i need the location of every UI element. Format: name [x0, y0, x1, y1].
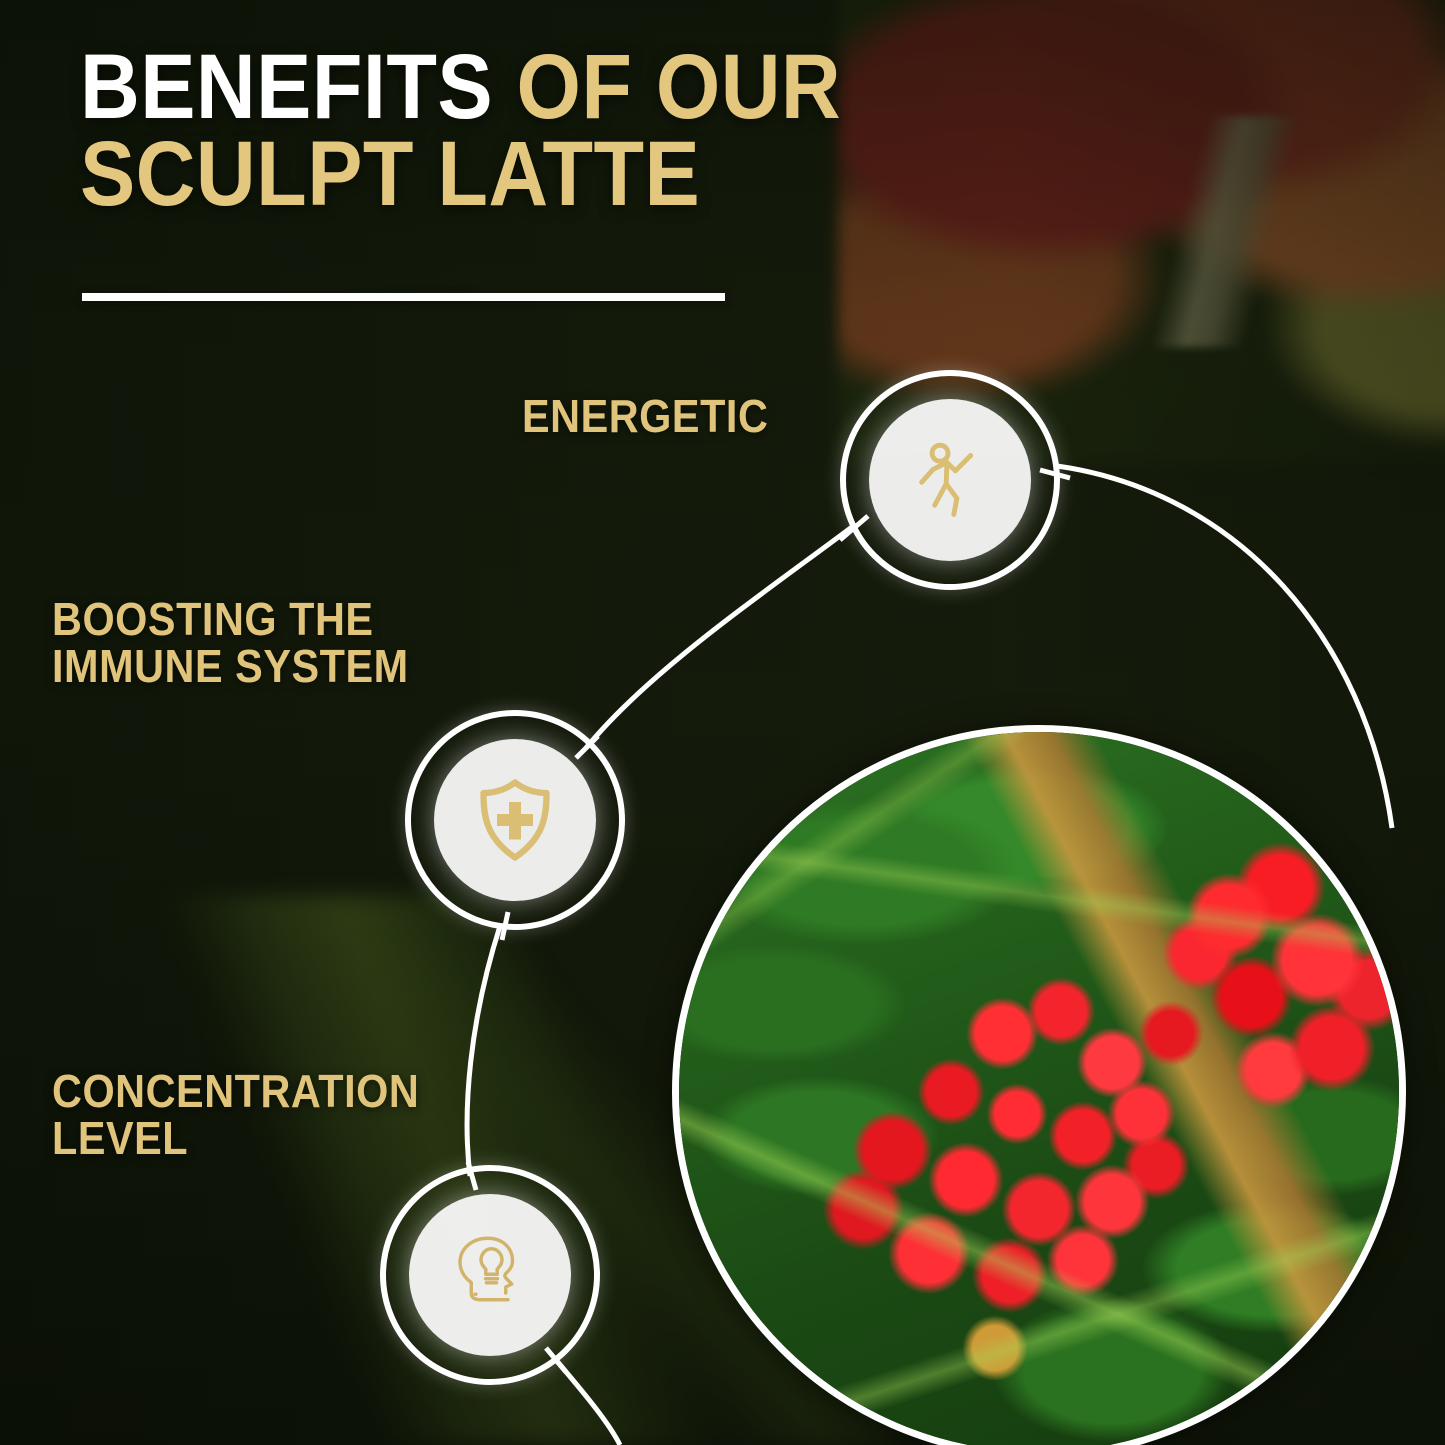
infographic-canvas: BENEFITS OF OUR SCULPT LATTE ENERGETIC B…	[0, 0, 1445, 1445]
inset-photo-leaf-veins	[679, 732, 1399, 1445]
benefit-node-energetic[interactable]	[840, 370, 1060, 590]
shield-plus-icon	[467, 772, 563, 868]
title-line-2: SCULPT LATTE	[80, 131, 818, 218]
title-underline	[82, 293, 725, 301]
benefit-label-concentration: CONCENTRATION LEVEL	[52, 1068, 419, 1162]
node-inner-disc	[869, 399, 1031, 561]
benefit-node-immune[interactable]	[405, 710, 625, 930]
title-line-1: BENEFITS OF OUR	[80, 44, 818, 131]
node-inner-disc	[409, 1194, 571, 1356]
benefit-node-concentration[interactable]	[380, 1165, 600, 1385]
benefit-label-energetic: ENERGETIC	[522, 393, 768, 440]
red-coffee-cherries-circle-photo	[672, 725, 1406, 1445]
page-title: BENEFITS OF OUR SCULPT LATTE	[80, 44, 900, 219]
node-inner-disc	[434, 739, 596, 901]
walking-person-icon	[901, 431, 999, 529]
head-lightbulb-icon	[442, 1227, 538, 1323]
benefit-label-immune: BOOSTING THE IMMUNE SYSTEM	[52, 596, 409, 690]
